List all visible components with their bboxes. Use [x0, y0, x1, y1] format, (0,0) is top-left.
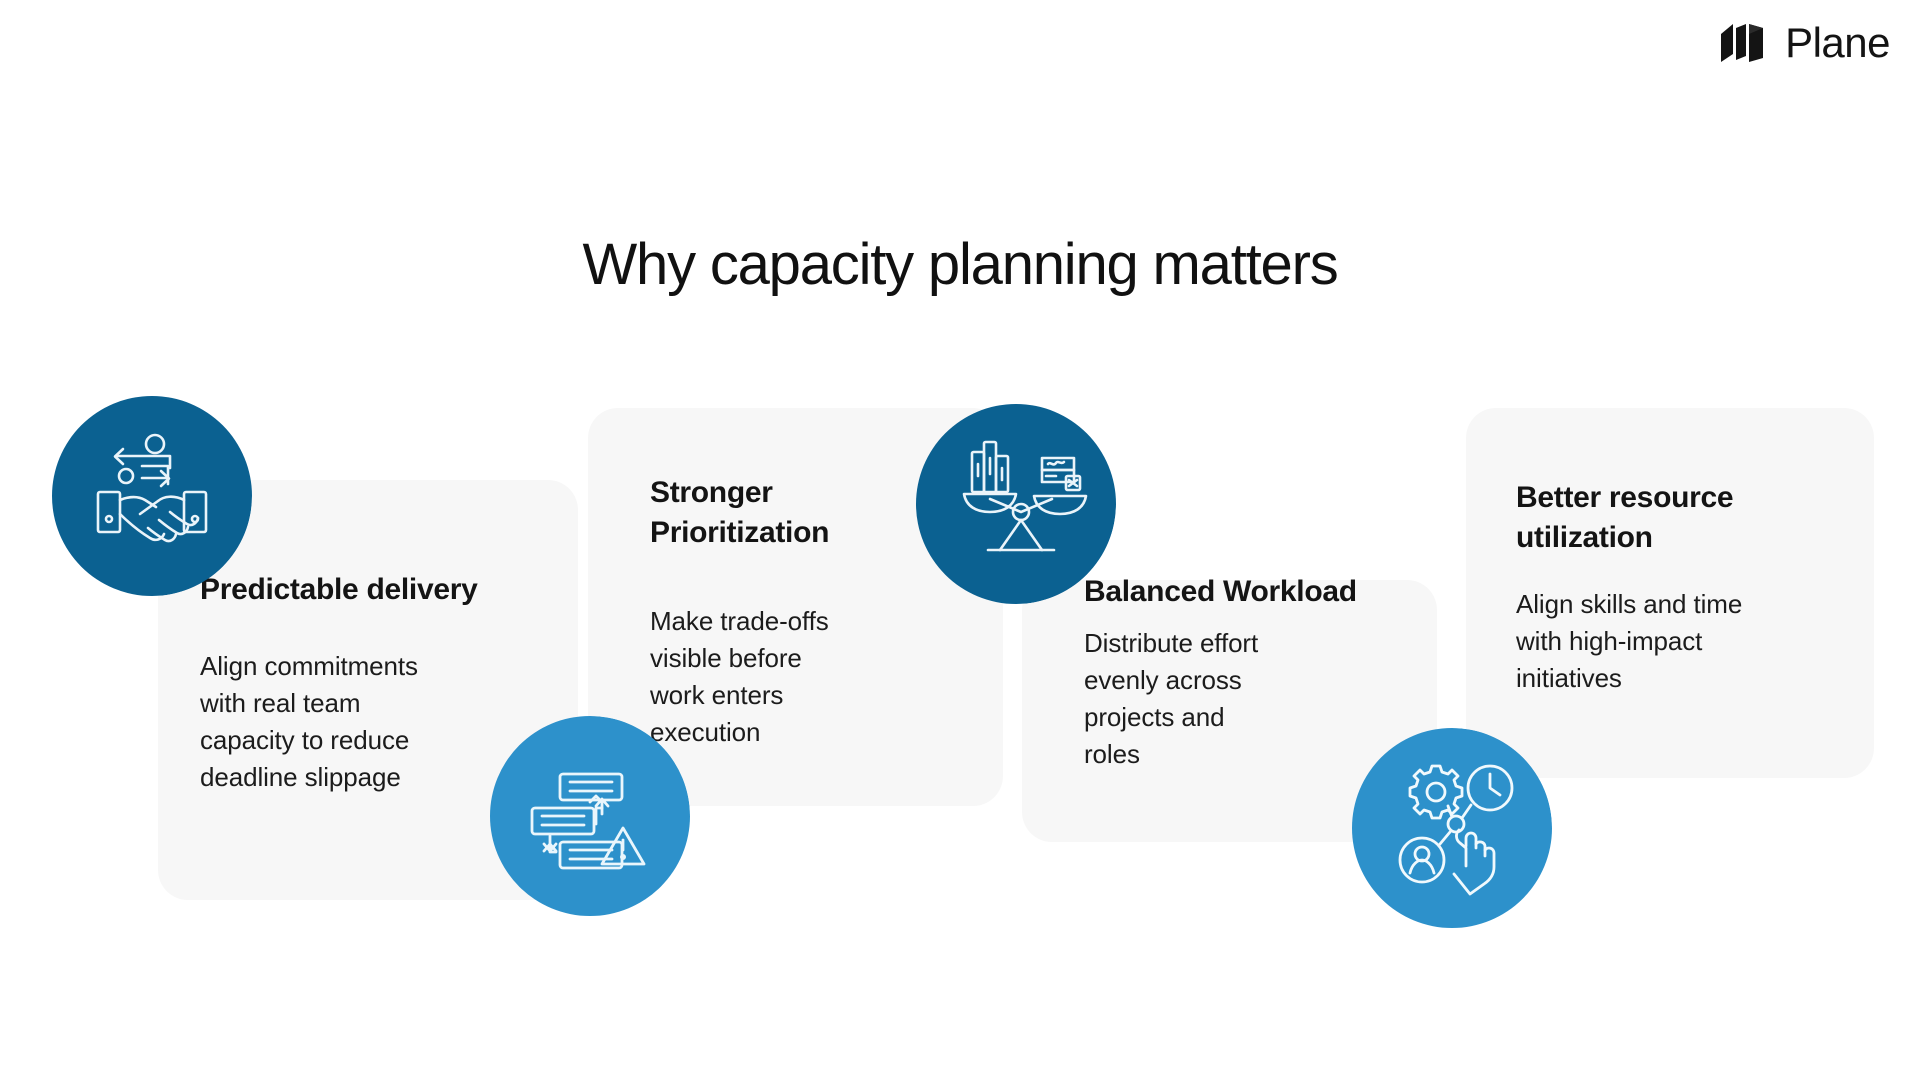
- card-body: Align commitments with real team capacit…: [200, 648, 530, 796]
- card-title: Predictable delivery: [200, 570, 560, 610]
- card-body: Align skills and time with high-impact i…: [1516, 586, 1836, 697]
- plane-logo-icon: [1719, 22, 1771, 64]
- badge-better-resource-utilization: [1352, 728, 1552, 928]
- card-better-resource-utilization: Better resource utilization Align skills…: [1466, 408, 1874, 778]
- brand-name: Plane: [1785, 22, 1890, 64]
- badge-stronger-prioritization: [490, 716, 690, 916]
- card-body: Distribute effort evenly across projects…: [1084, 625, 1374, 773]
- badge-predictable-delivery: [52, 396, 252, 596]
- slide-canvas: Plane Why capacity planning matters Pred…: [0, 0, 1920, 1080]
- page-title: Why capacity planning matters: [0, 231, 1920, 298]
- brand-logo: Plane: [1719, 22, 1890, 64]
- card-title: Better resource utilization: [1516, 478, 1846, 557]
- badge-balanced-workload: [916, 404, 1116, 604]
- card-title: Balanced Workload: [1084, 572, 1424, 612]
- card-body: Make trade-offs visible before work ente…: [650, 603, 950, 751]
